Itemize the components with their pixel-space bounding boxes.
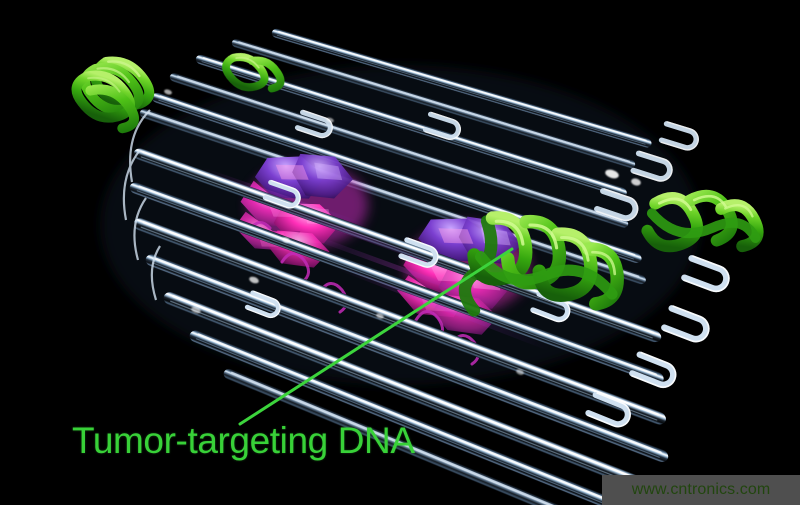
annotation-label: Tumor-targeting DNA (72, 421, 415, 461)
illustration-canvas: Tumor-targeting DNA www.cntronics.com (0, 0, 800, 505)
watermark-text: www.cntronics.com (632, 481, 771, 499)
watermark-band: www.cntronics.com (602, 475, 800, 505)
